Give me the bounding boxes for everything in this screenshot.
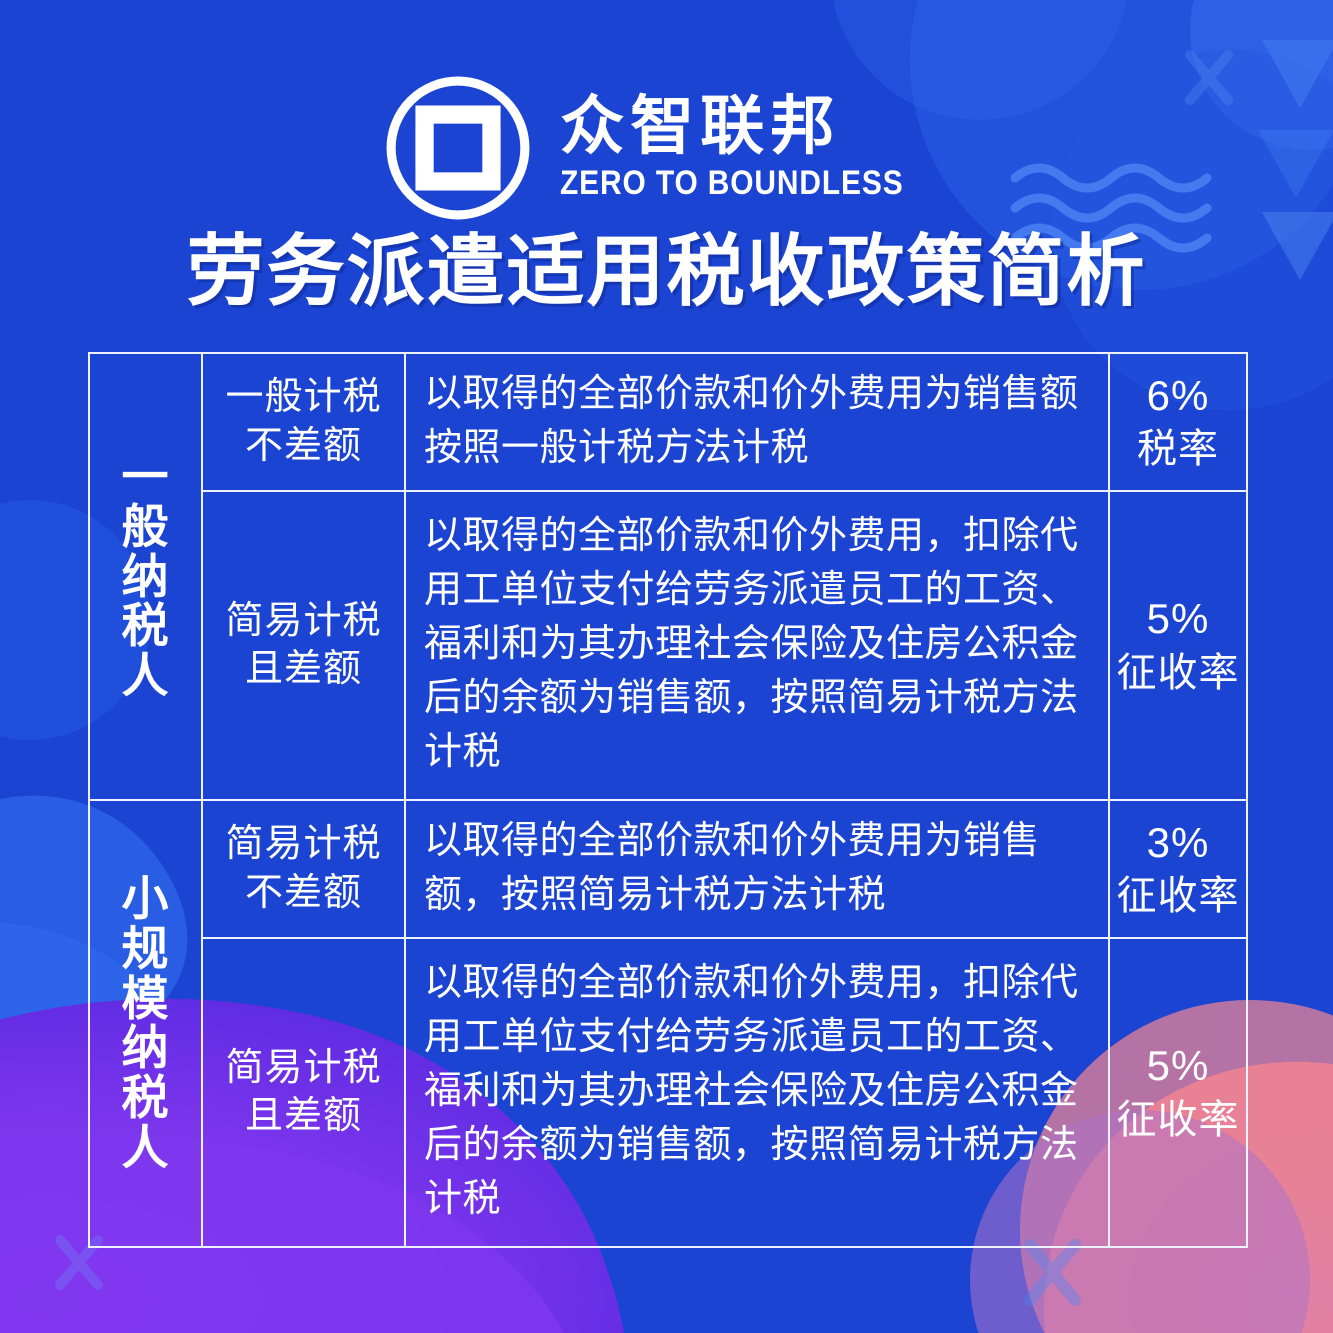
description-cell: 以取得的全部价款和价外费用，扣除代用工单位支付给劳务派遣员工的工资、福利和为其办… xyxy=(405,938,1109,1247)
page-title: 劳务派遣适用税收政策简析 xyxy=(0,232,1333,314)
method-line: 一般计税 xyxy=(207,373,400,422)
rate-label: 征收率 xyxy=(1112,870,1244,922)
method-line: 且差额 xyxy=(207,1092,400,1141)
group-char: 纳 xyxy=(90,1023,201,1073)
rate-label: 税率 xyxy=(1112,423,1244,475)
rate-cell: 6% 税率 xyxy=(1109,353,1247,491)
description-cell: 以取得的全部价款和价外费用，扣除代用工单位支付给劳务派遣员工的工资、福利和为其办… xyxy=(405,491,1109,800)
method-line: 简易计税 xyxy=(207,597,400,646)
group-char: 般 xyxy=(90,502,201,552)
method-cell: 简易计税 且差额 xyxy=(202,491,405,800)
method-cell: 简易计税 不差额 xyxy=(202,800,405,938)
rate-cell: 5% 征收率 xyxy=(1109,938,1247,1247)
group-char: 一 xyxy=(90,452,201,502)
table-row: 小 规 模 纳 税 人 简易计税 不差额 以取得的全部价款和价外费用为销售额，按… xyxy=(89,800,1247,938)
table-row: 简易计税 且差额 以取得的全部价款和价外费用，扣除代用工单位支付给劳务派遣员工的… xyxy=(89,938,1247,1247)
rate-cell: 5% 征收率 xyxy=(1109,491,1247,800)
taxpayer-group-general: 一 般 纳 税 人 xyxy=(89,353,202,800)
table-row: 一 般 纳 税 人 一般计税 不差额 以取得的全部价款和价外费用为销售额按照一般… xyxy=(89,353,1247,491)
method-line: 且差额 xyxy=(207,645,400,694)
group-char: 人 xyxy=(90,651,201,701)
description-cell: 以取得的全部价款和价外费用为销售额按照一般计税方法计税 xyxy=(405,353,1109,491)
method-line: 不差额 xyxy=(207,869,400,918)
brand-text-block: 众智联邦 ZERO TO BOUNDLESS xyxy=(560,94,950,203)
group-char: 纳 xyxy=(90,552,201,602)
rate-value: 5% xyxy=(1112,592,1244,647)
group-char: 模 xyxy=(90,974,201,1024)
group-char: 税 xyxy=(90,1073,201,1123)
group-char: 小 xyxy=(90,874,201,924)
method-line: 简易计税 xyxy=(207,820,400,869)
rate-cell: 3% 征收率 xyxy=(1109,800,1247,938)
rate-value: 6% xyxy=(1112,369,1244,424)
aperture-square-in-circle-logo-icon xyxy=(382,72,534,224)
table-row: 简易计税 且差额 以取得的全部价款和价外费用，扣除代用工单位支付给劳务派遣员工的… xyxy=(89,491,1247,800)
rate-label: 征收率 xyxy=(1112,647,1244,699)
method-cell: 简易计税 且差额 xyxy=(202,938,405,1247)
policy-table-wrapper: 一 般 纳 税 人 一般计税 不差额 以取得的全部价款和价外费用为销售额按照一般… xyxy=(88,352,1246,1248)
group-char: 人 xyxy=(90,1123,201,1173)
taxpayer-group-small-scale: 小 规 模 纳 税 人 xyxy=(89,800,202,1247)
brand-header: 众智联邦 ZERO TO BOUNDLESS xyxy=(0,72,1333,224)
rate-value: 3% xyxy=(1112,816,1244,871)
method-line: 简易计税 xyxy=(207,1044,400,1093)
brand-name-cn: 众智联邦 xyxy=(560,94,840,159)
method-cell: 一般计税 不差额 xyxy=(202,353,405,491)
rate-label: 征收率 xyxy=(1112,1094,1244,1146)
group-char: 规 xyxy=(90,924,201,974)
description-cell: 以取得的全部价款和价外费用为销售额，按照简易计税方法计税 xyxy=(405,800,1109,938)
group-char: 税 xyxy=(90,601,201,651)
method-line: 不差额 xyxy=(207,422,400,471)
brand-name-en: ZERO TO BOUNDLESS xyxy=(560,165,904,202)
policy-table: 一 般 纳 税 人 一般计税 不差额 以取得的全部价款和价外费用为销售额按照一般… xyxy=(88,352,1248,1248)
poster-content: 众智联邦 ZERO TO BOUNDLESS 劳务派遣适用税收政策简析 一 般 … xyxy=(0,0,1333,1333)
rate-value: 5% xyxy=(1112,1039,1244,1094)
